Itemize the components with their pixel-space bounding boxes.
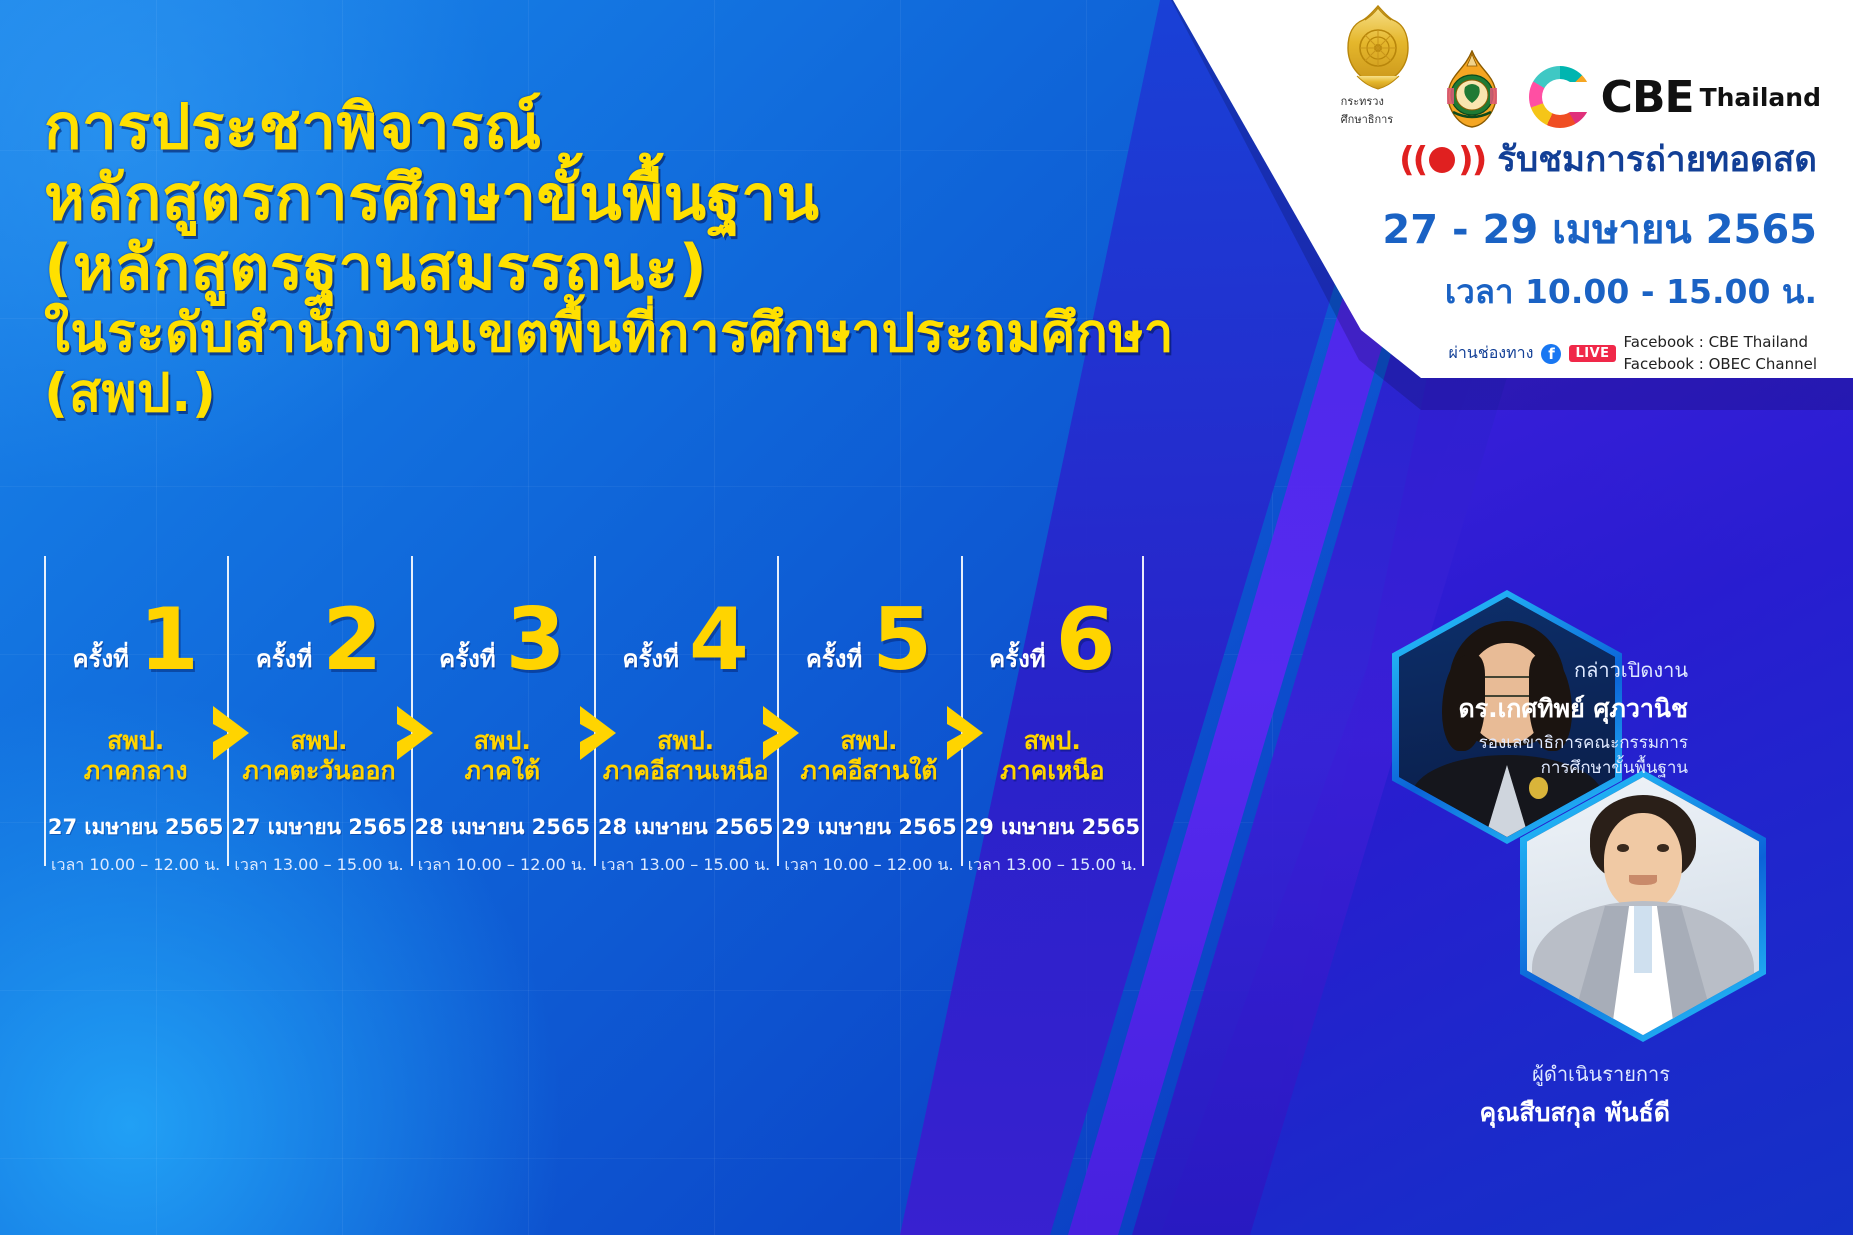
- cbe-ring-icon: [1529, 66, 1591, 128]
- session-region-name: ภาคใต้: [464, 756, 540, 786]
- session-time: เวลา 13.00 – 15.00 น.: [968, 853, 1137, 878]
- session-number-row: ครั้งที่ 4: [622, 604, 748, 680]
- session-date: 29 เมษายน 2565: [965, 811, 1141, 844]
- session-time: เวลา 10.00 – 12.00 น.: [784, 853, 953, 878]
- session-region: สพป. ภาคเหนือ: [1000, 726, 1104, 785]
- session-number: 6: [1056, 604, 1116, 677]
- session-date: 28 เมษายน 2565: [598, 811, 774, 844]
- session-prefix: ครั้งที่: [439, 639, 495, 678]
- title-line-4: ในระดับสำนักงานเขตพื้นที่การศึกษาประถมศึ…: [44, 304, 1334, 425]
- title-line-2: หลักสูตรการศึกษาขั้นพื้นฐาน: [44, 163, 1334, 234]
- timeline-end-divider: [1142, 556, 1144, 866]
- session-date: 27 เมษายน 2565: [48, 811, 224, 844]
- session-region-name: ภาคอีสานใต้: [800, 756, 937, 786]
- session-time: เวลา 10.00 – 12.00 น.: [51, 853, 220, 878]
- session-region: สพป. ภาคกลาง: [84, 726, 188, 785]
- channel-row: ผ่านช่องทาง f LIVE Facebook : CBE Thaila…: [1347, 332, 1817, 376]
- opening-speaker-role: กล่าวเปิดงาน: [1358, 654, 1688, 686]
- session-org: สพป.: [800, 726, 937, 756]
- session-time: เวลา 13.00 – 15.00 น.: [601, 853, 770, 878]
- channel-item[interactable]: Facebook : OBEC Channel: [1624, 354, 1817, 376]
- opening-speaker-org-line2: การศึกษาขั้นพื้นฐาน: [1358, 757, 1688, 779]
- page-title: การประชาพิจารณ์ หลักสูตรการศึกษาขั้นพื้น…: [44, 92, 1334, 425]
- session-date: 27 เมษายน 2565: [231, 811, 407, 844]
- live-headline: รับชมการถ่ายทอดสด: [1497, 132, 1817, 187]
- host-speaker-label: ผู้ดำเนินรายการ คุณสืบสกุล พันธ์ดี: [1330, 1058, 1670, 1133]
- session-column-5[interactable]: ครั้งที่ 5 สพป. ภาคอีสานใต้ 29 เมษายน 25…: [777, 556, 960, 866]
- session-number-row: ครั้งที่ 5: [806, 604, 932, 680]
- channel-label: ผ่านช่องทาง: [1449, 341, 1534, 366]
- session-number-row: ครั้งที่ 3: [439, 604, 565, 680]
- host-speaker-role: ผู้ดำเนินรายการ: [1330, 1058, 1670, 1090]
- channel-item[interactable]: Facebook : CBE Thailand: [1624, 332, 1817, 354]
- live-broadcast-icon: (()): [1399, 140, 1485, 180]
- ministry-caption: กระทรวงศึกษาธิการ: [1341, 92, 1415, 128]
- title-line-3: (หลักสูตรฐานสมรรถนะ): [44, 233, 1334, 304]
- session-org: สพป.: [464, 726, 540, 756]
- session-prefix: ครั้งที่: [256, 639, 312, 678]
- facebook-icon[interactable]: f: [1541, 344, 1561, 364]
- live-badge: LIVE: [1569, 345, 1615, 362]
- cbe-thailand-sub: Thailand: [1700, 83, 1821, 112]
- live-headline-row: (()) รับชมการถ่ายทอดสด: [1347, 132, 1817, 187]
- cbe-thailand-logo: CBE Thailand: [1529, 66, 1821, 128]
- session-region-name: ภาคเหนือ: [1000, 756, 1104, 786]
- session-number: 5: [872, 604, 932, 677]
- host-speaker-name: คุณสืบสกุล พันธ์ดี: [1330, 1093, 1670, 1133]
- session-time: เวลา 10.00 – 12.00 น.: [418, 853, 587, 878]
- session-region: สพป. ภาคใต้: [464, 726, 540, 785]
- sessions-timeline: ครั้งที่ 1 สพป. ภาคกลาง 27 เมษายน 2565 เ…: [44, 556, 1144, 866]
- session-column-1[interactable]: ครั้งที่ 1 สพป. ภาคกลาง 27 เมษายน 2565 เ…: [44, 556, 227, 866]
- live-date: 27 - 29 เมษายน 2565: [1347, 197, 1817, 261]
- cbe-wordmark: CBE: [1601, 72, 1694, 123]
- session-prefix: ครั้งที่: [622, 639, 678, 678]
- live-broadcast-block: (()) รับชมการถ่ายทอดสด 27 - 29 เมษายน 25…: [1347, 132, 1817, 376]
- session-time: เวลา 13.00 – 15.00 น.: [234, 853, 403, 878]
- poster-root: กระทรวงศึกษาธิการ CBE Thailand (()): [0, 0, 1853, 1235]
- session-number: 2: [322, 604, 382, 677]
- title-line-1: การประชาพิจารณ์: [44, 92, 1334, 163]
- session-number: 3: [506, 604, 566, 677]
- ministry-of-education-crest-icon: [1341, 4, 1415, 90]
- obec-emblem-icon: [1441, 50, 1503, 128]
- session-column-4[interactable]: ครั้งที่ 4 สพป. ภาคอีสานเหนือ 28 เมษายน …: [594, 556, 777, 866]
- opening-speaker-name: ดร.เกศทิพย์ ศุภวานิช: [1358, 689, 1688, 729]
- host-speaker-avatar: [1520, 770, 1752, 1028]
- live-time: เวลา 10.00 - 15.00 น.: [1347, 265, 1817, 318]
- session-date: 29 เมษายน 2565: [781, 811, 957, 844]
- session-org: สพป.: [84, 726, 188, 756]
- session-region: สพป. ภาคตะวันออก: [242, 726, 395, 785]
- session-prefix: ครั้งที่: [73, 639, 129, 678]
- session-prefix: ครั้งที่: [806, 639, 862, 678]
- session-org: สพป.: [242, 726, 395, 756]
- session-number-row: ครั้งที่ 2: [256, 604, 382, 680]
- session-number-row: ครั้งที่ 6: [989, 604, 1115, 680]
- session-region: สพป. ภาคอีสานใต้: [800, 726, 937, 785]
- session-org: สพป.: [1000, 726, 1104, 756]
- logo-row: กระทรวงศึกษาธิการ CBE Thailand: [1351, 18, 1821, 128]
- opening-speaker-label: กล่าวเปิดงาน ดร.เกศทิพย์ ศุภวานิช รองเลข…: [1358, 654, 1688, 779]
- session-column-2[interactable]: ครั้งที่ 2 สพป. ภาคตะวันออก 27 เมษายน 25…: [227, 556, 410, 866]
- session-date: 28 เมษายน 2565: [415, 811, 591, 844]
- session-org: สพป.: [603, 726, 769, 756]
- opening-speaker-org-line1: รองเลขาธิการคณะกรรมการ: [1358, 732, 1688, 754]
- session-number: 1: [139, 604, 199, 677]
- session-column-6[interactable]: ครั้งที่ 6 สพป. ภาคเหนือ 29 เมษายน 2565 …: [961, 556, 1144, 866]
- session-prefix: ครั้งที่: [989, 639, 1045, 678]
- session-number-row: ครั้งที่ 1: [73, 604, 199, 680]
- ministry-logo-block: กระทรวงศึกษาธิการ: [1341, 4, 1415, 128]
- channel-list: Facebook : CBE Thailand Facebook : OBEC …: [1624, 332, 1817, 376]
- session-region: สพป. ภาคอีสานเหนือ: [603, 726, 769, 785]
- session-region-name: ภาคกลาง: [84, 756, 188, 786]
- obec-logo-block: [1441, 50, 1503, 128]
- session-number: 4: [689, 604, 749, 677]
- session-region-name: ภาคอีสานเหนือ: [603, 756, 769, 786]
- avatar-photo-male: [1527, 777, 1759, 1035]
- session-region-name: ภาคตะวันออก: [242, 756, 395, 786]
- session-column-3[interactable]: ครั้งที่ 3 สพป. ภาคใต้ 28 เมษายน 2565 เว…: [411, 556, 594, 866]
